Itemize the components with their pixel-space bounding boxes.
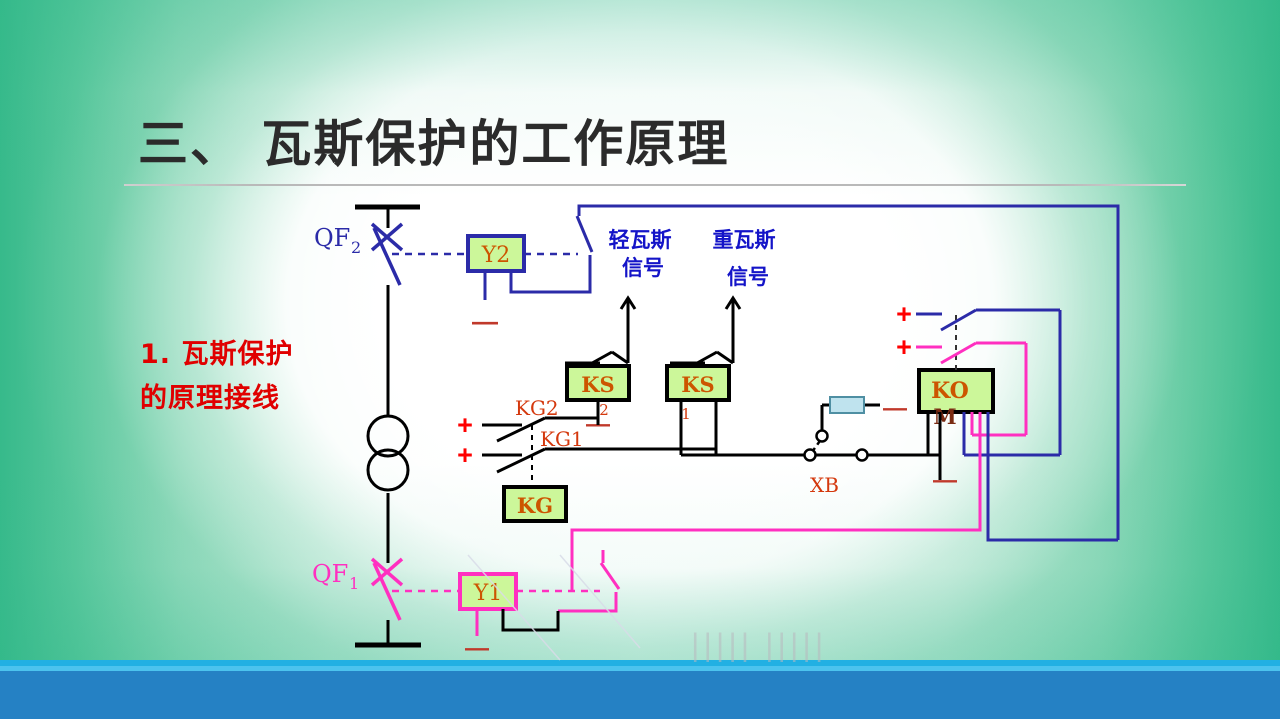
- label-ks-left: KS: [581, 372, 614, 397]
- minus-sign-y2: —: [472, 306, 498, 336]
- circuit-diagram: QF 2 Y2 — 轻瓦斯 信号 重瓦斯 信号: [0, 0, 1280, 719]
- label-light-gas-signal-line1: 轻瓦斯: [609, 228, 672, 252]
- label-light-gas-signal-line2: 信号: [622, 256, 664, 280]
- plus-sign-kg1: +: [457, 440, 473, 470]
- label-qf2: QF: [314, 224, 350, 252]
- transformer-symbol: [368, 416, 408, 490]
- trip-circuit-magenta: [558, 412, 980, 611]
- label-qf1-subscript: 1: [349, 574, 359, 593]
- plus-sign-kg2: +: [457, 410, 473, 440]
- label-ks-right: KS: [681, 372, 714, 397]
- main-bus-black: [355, 207, 421, 645]
- plus-sign-ko-magenta: +: [896, 332, 912, 362]
- label-kg: KG: [517, 493, 553, 518]
- label-y1: Y1: [473, 581, 503, 606]
- minus-sign-y1: —: [465, 635, 489, 662]
- slide-canvas: ||||| ||||| 三、 瓦斯保护的工作原理 1. 瓦斯保护 的原理接线: [0, 0, 1280, 719]
- y1-wiring: [477, 609, 558, 636]
- trip-return-blue: [988, 412, 1118, 540]
- label-ko: KO: [931, 378, 969, 404]
- minus-sign-resistor: —: [883, 395, 907, 422]
- plus-sign-ko-blue: +: [896, 299, 912, 329]
- label-y2: Y2: [481, 243, 511, 268]
- label-ks-right-subscript: 1: [681, 405, 691, 423]
- resistor-symbol: [830, 397, 864, 413]
- label-xb: XB: [810, 473, 839, 497]
- label-qf1: QF: [312, 560, 348, 588]
- ks-coil-leads: [598, 400, 800, 455]
- signal-arrows: [621, 298, 740, 363]
- label-heavy-gas-signal-line1: 重瓦斯: [713, 228, 776, 252]
- breaker-qf1: [372, 559, 402, 620]
- label-m: M: [933, 404, 956, 429]
- label-kg2: KG2: [515, 396, 559, 420]
- label-qf2-subscript: 2: [351, 238, 361, 257]
- label-heavy-gas-signal-line2: 信号: [727, 265, 769, 289]
- minus-sign-ko: —: [933, 467, 957, 494]
- label-kg1: KG1: [540, 427, 584, 451]
